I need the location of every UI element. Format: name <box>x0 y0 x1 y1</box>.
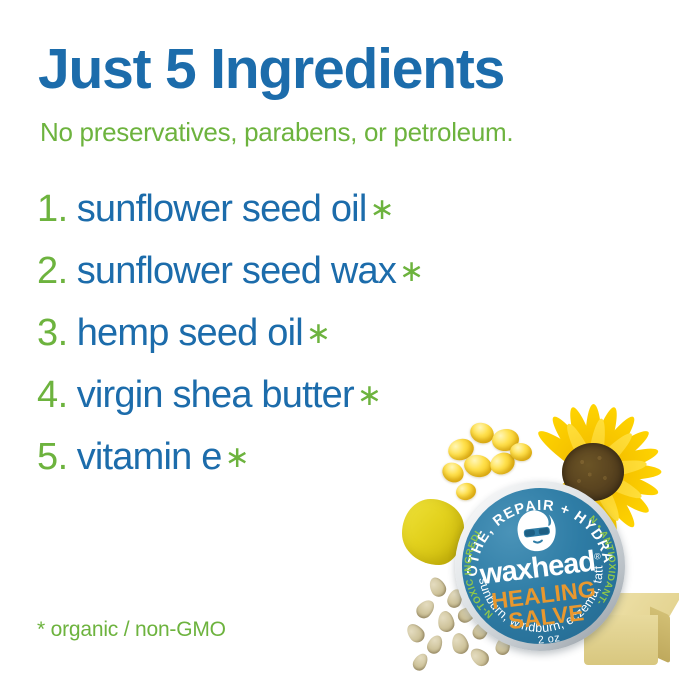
list-item-number: 5. <box>37 436 68 479</box>
page-title: Just 5 Ingredients <box>38 41 504 98</box>
asterisk-icon: ∗ <box>369 192 394 227</box>
list-item: 2. sunflower seed wax ∗ <box>37 250 557 312</box>
hemp-seed-graphic <box>425 633 446 656</box>
hemp-seed-graphic <box>403 621 427 646</box>
product-composition: SOOTHE, REPAIR + HYDRATE for sunburn, wi… <box>400 395 679 679</box>
list-item-number: 1. <box>37 188 68 231</box>
asterisk-icon: ∗ <box>225 440 250 475</box>
asterisk-icon: ∗ <box>306 316 331 351</box>
list-item-label: vitamin e <box>77 436 222 479</box>
oil-capsule-graphic <box>439 459 468 486</box>
list-item-number: 3. <box>37 312 68 355</box>
list-item-number: 2. <box>37 250 68 293</box>
list-item: 3. hemp seed oil ∗ <box>37 312 557 374</box>
hemp-seed-graphic <box>436 610 455 633</box>
hemp-seed-graphic <box>410 651 430 673</box>
page-subtitle: No preservatives, parabens, or petroleum… <box>40 119 513 145</box>
list-item-label: virgin shea butter <box>77 374 354 417</box>
infographic-canvas: Just 5 Ingredients No preservatives, par… <box>0 0 679 679</box>
asterisk-icon: ∗ <box>399 254 424 289</box>
tin-label: SOOTHE, REPAIR + HYDRATE for sunburn, wi… <box>453 479 627 653</box>
registered-mark-icon: ® <box>594 551 601 562</box>
hemp-seed-graphic <box>426 575 449 600</box>
footnote: * organic / non-GMO <box>37 618 226 642</box>
asterisk-icon: ∗ <box>357 378 382 413</box>
list-item-label: sunflower seed oil <box>77 188 367 231</box>
list-item-label: hemp seed oil <box>77 312 303 355</box>
hemp-seed-graphic <box>449 631 470 656</box>
list-item: 1. sunflower seed oil ∗ <box>37 188 557 250</box>
list-item-number: 4. <box>37 374 68 417</box>
hemp-seed-graphic <box>413 597 438 622</box>
list-item-label: sunflower seed wax <box>77 250 396 293</box>
product-tin: SOOTHE, REPAIR + HYDRATE for sunburn, wi… <box>445 471 634 660</box>
